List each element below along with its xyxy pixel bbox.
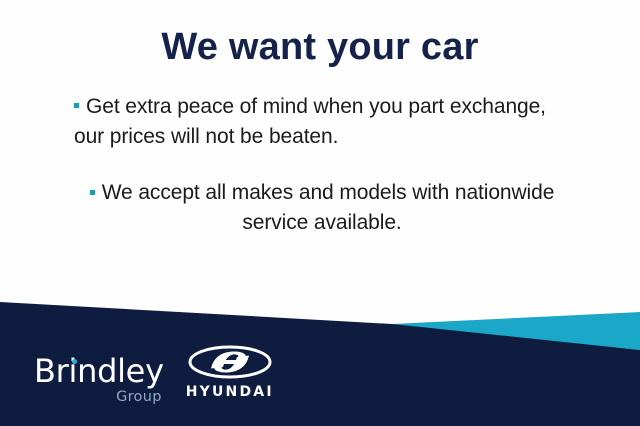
list-item: We accept all makes and models with nati… [0, 178, 640, 238]
promo-card: We want your car Get extra peace of mind… [0, 0, 640, 426]
brindley-wordmark: Brindley [34, 355, 164, 388]
bullet-dot-icon [90, 190, 95, 195]
list-item: Get extra peace of mind when you part ex… [0, 92, 640, 152]
list-item-label: Get extra peace of mind when you part ex… [74, 95, 546, 148]
hyundai-emblem-icon [188, 345, 272, 379]
bullet-dot-icon [74, 103, 79, 108]
brindley-group-logo: Brindley Group [34, 355, 164, 404]
hyundai-logo: HYUNDAI [186, 345, 274, 404]
brindley-name: Brindley [34, 352, 164, 390]
brindley-subtitle: Group [116, 390, 164, 405]
list-item-label: We accept all makes and models with nati… [102, 181, 555, 234]
page-title: We want your car [0, 0, 640, 70]
promo-content: We want your car Get extra peace of mind… [0, 0, 640, 300]
benefit-list: Get extra peace of mind when you part ex… [0, 92, 640, 238]
brindley-dot-icon [72, 359, 77, 364]
hyundai-wordmark: HYUNDAI [186, 384, 274, 400]
logo-row: Brindley Group HYUNDAI [34, 345, 274, 404]
